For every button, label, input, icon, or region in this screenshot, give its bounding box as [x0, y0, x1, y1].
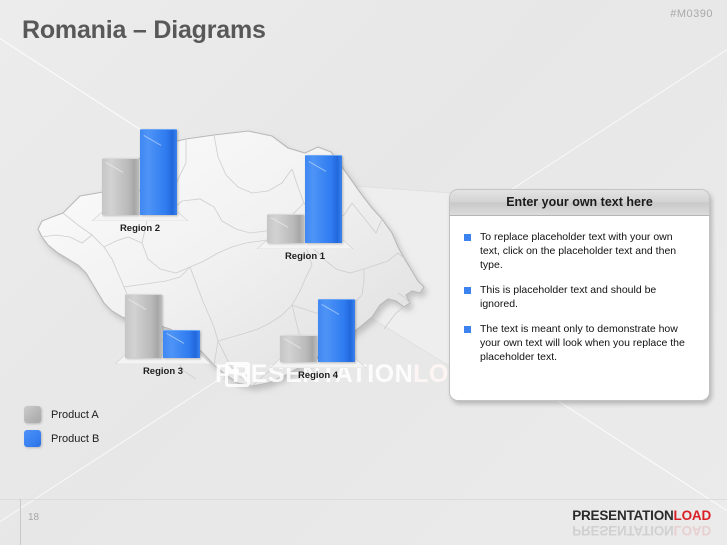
legend-label-product-b: Product B: [51, 433, 99, 445]
page-number: 18: [28, 512, 39, 523]
region-label-2: Region 2: [92, 223, 188, 234]
textbox-header: Enter your own text here: [450, 190, 709, 216]
bar-region-3-product-a[interactable]: [125, 294, 162, 358]
legend-item-product-b[interactable]: Product B: [24, 430, 99, 447]
textbox-bullet-text-1: To replace placeholder text with your ow…: [480, 230, 695, 272]
bar-group-region-1[interactable]: Region 1: [257, 151, 353, 249]
bar-region-1-product-b[interactable]: [305, 155, 342, 243]
bar-group-region-2[interactable]: Region 2: [92, 121, 188, 221]
brand-reflection-prefix: PRESENTATION: [572, 523, 673, 538]
bullet-marker-icon: [464, 326, 471, 333]
brand-logo-reflection: PRESENTATIONLOAD: [572, 523, 711, 538]
page-title: Romania – Diagrams: [22, 16, 266, 45]
textbox-bullet-2[interactable]: This is placeholder text and should be i…: [462, 283, 695, 311]
region-label-4: Region 4: [270, 370, 366, 381]
brand-reflection-suffix: LOAD: [674, 523, 711, 538]
textbox-bullet-text-2: This is placeholder text and should be i…: [480, 283, 695, 311]
legend-swatch-product-a: [24, 406, 41, 423]
textbox-bullet-1[interactable]: To replace placeholder text with your ow…: [462, 230, 695, 272]
bar-region-4-product-b[interactable]: [318, 299, 355, 362]
template-code: #M0390: [670, 8, 713, 20]
callout-textbox[interactable]: Enter your own text here To replace plac…: [449, 189, 710, 401]
textbox-body: To replace placeholder text with your ow…: [450, 216, 709, 364]
region-label-3: Region 3: [115, 366, 211, 377]
brand-suffix: LOAD: [674, 508, 711, 523]
footer-divider-horizontal: [0, 499, 727, 500]
slide: Romania – Diagrams #M0390: [0, 0, 727, 545]
textbox-bullet-3[interactable]: The text is meant only to demonstrate ho…: [462, 322, 695, 364]
textbox-bullet-text-3: The text is meant only to demonstrate ho…: [480, 322, 695, 364]
chart-legend: Product A Product B: [24, 406, 99, 454]
legend-item-product-a[interactable]: Product A: [24, 406, 99, 423]
legend-label-product-a: Product A: [51, 409, 99, 421]
bar-region-2-product-b[interactable]: [140, 129, 177, 215]
romania-map-svg: [0, 95, 460, 395]
bar-group-region-4[interactable]: Region 4: [270, 272, 366, 368]
bar-region-1-product-a[interactable]: [267, 214, 304, 243]
brand-prefix: PRESENTATION: [572, 508, 673, 523]
bar-region-3-product-b[interactable]: [163, 330, 200, 358]
bar-region-2-product-a[interactable]: [102, 158, 139, 215]
bullet-marker-icon: [464, 234, 471, 241]
brand-logo: PRESENTATIONLOAD: [572, 508, 711, 523]
bullet-marker-icon: [464, 287, 471, 294]
region-label-1: Region 1: [257, 251, 353, 262]
bar-region-4-product-a[interactable]: [280, 335, 317, 362]
footer-divider-vertical: [20, 499, 21, 545]
legend-swatch-product-b: [24, 430, 41, 447]
bar-group-region-3[interactable]: Region 3: [115, 268, 211, 364]
romania-map[interactable]: PRESENTATIONLOAD Region 2 Region 1: [0, 95, 460, 395]
